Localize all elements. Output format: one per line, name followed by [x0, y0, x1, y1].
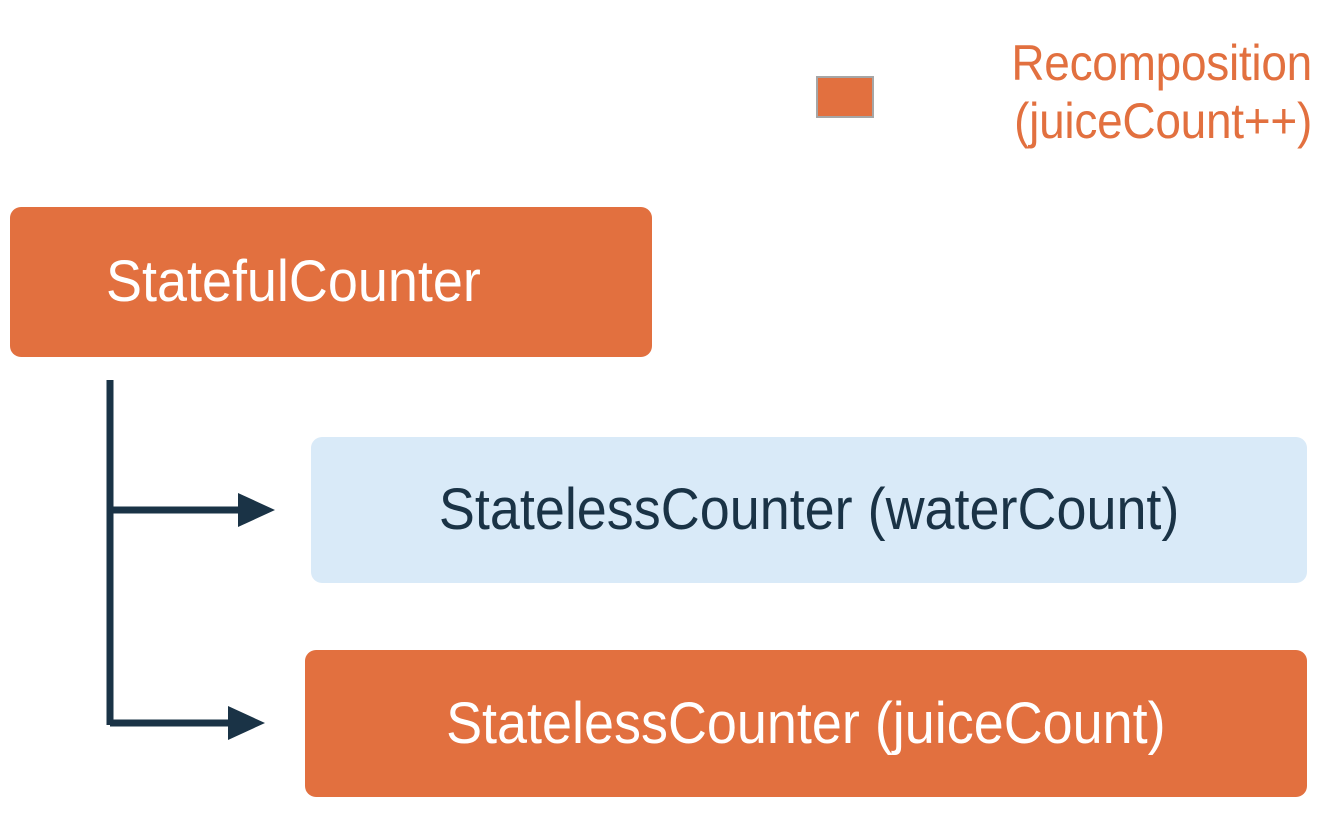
node-stateful-counter[interactable]: StatefulCounter: [10, 207, 652, 357]
legend: Recomposition (juiceCount++): [812, 34, 1312, 174]
legend-label-line-2: (juiceCount++): [944, 92, 1312, 150]
node-stateless-counter-water-label: StatelessCounter (waterCount): [439, 481, 1180, 539]
legend-label: Recomposition (juiceCount++): [944, 34, 1312, 150]
legend-label-line-1: Recomposition: [944, 34, 1312, 92]
arrow-right-icon-water: [238, 493, 275, 527]
recomposition-color-swatch-icon: [816, 76, 874, 118]
diagram-canvas: Recomposition (juiceCount++) StatefulCou…: [0, 0, 1322, 818]
node-stateless-counter-juice[interactable]: StatelessCounter (juiceCount): [305, 650, 1307, 797]
node-stateful-counter-label: StatefulCounter: [106, 253, 481, 311]
arrow-right-icon-juice: [228, 706, 265, 740]
node-stateless-counter-juice-label: StatelessCounter (juiceCount): [446, 695, 1166, 753]
node-stateless-counter-water[interactable]: StatelessCounter (waterCount): [311, 437, 1307, 583]
